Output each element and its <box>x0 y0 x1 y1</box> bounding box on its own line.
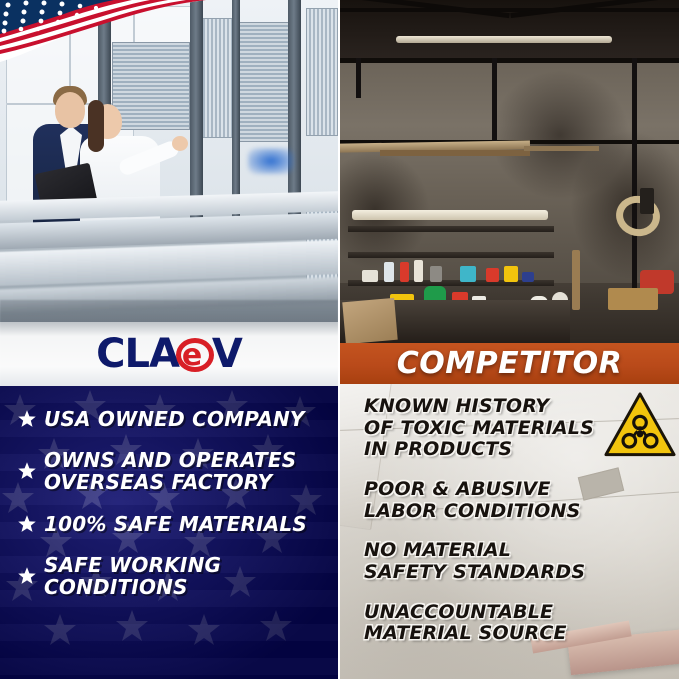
workshop-photo <box>340 0 679 343</box>
clutter-item <box>608 288 658 310</box>
shelf <box>348 252 554 258</box>
list-item: SAFE WORKING CONDITIONS <box>14 554 330 599</box>
drawback-text: KNOWN HISTORY OF TOXIC MATERIALS IN PROD… <box>364 396 594 461</box>
page-title: COMPETITOR <box>397 349 623 379</box>
drawback-text: POOR & ABUSIVE LABOR CONDITIONS <box>364 478 581 522</box>
clutter-item <box>522 272 534 282</box>
competitor-heading-band: COMPETITOR <box>340 343 679 384</box>
right-panel-competitor: COMPETITOR <box>340 0 679 679</box>
clutter-item <box>640 188 654 214</box>
drawbacks-panel: KNOWN HISTORY OF TOXIC MATERIALS IN PROD… <box>340 384 679 679</box>
benefit-text: SAFE WORKING CONDITIONS <box>44 554 221 599</box>
shelf-rail <box>352 210 548 220</box>
logo-accent-letter: e <box>182 341 202 371</box>
benefit-text: 100% SAFE MATERIALS <box>44 513 307 535</box>
clutter-item <box>384 262 394 282</box>
wall-plank <box>524 146 599 151</box>
logo-text-after: V <box>212 334 242 374</box>
clutter-item <box>460 266 476 282</box>
list-item: USA OWNED COMPANY <box>14 406 330 432</box>
benefit-text: USA OWNED COMPANY <box>44 408 305 430</box>
logo-text-before: CLA <box>96 334 179 374</box>
structural-beam <box>340 58 679 63</box>
list-item: POOR & ABUSIVE LABOR CONDITIONS <box>364 479 669 522</box>
clutter-item <box>362 270 378 282</box>
left-panel-claev: CLA e V <box>0 0 338 679</box>
clutter-item <box>572 250 580 310</box>
benefits-panel: USA OWNED COMPANY OWNS AND OPERATES OVER… <box>0 386 338 679</box>
structural-beam <box>492 58 497 148</box>
brand-logo-band: CLA e V <box>0 322 338 386</box>
wall-plank <box>380 150 530 156</box>
star-bullet-icon <box>14 511 40 537</box>
structural-beam <box>632 58 637 288</box>
star-bullet-icon <box>14 563 40 589</box>
clutter-item <box>414 260 423 282</box>
clutter-item <box>486 268 499 282</box>
claev-logo: CLA e V <box>96 331 242 377</box>
structural-beam <box>356 58 361 98</box>
equipment-rack <box>306 8 338 136</box>
woman-hair-strand <box>88 100 104 152</box>
comparison-poster: CLA e V <box>0 0 679 679</box>
woman-hand <box>172 136 188 151</box>
list-item: OWNS AND OPERATES OVERSEAS FACTORY <box>14 449 330 494</box>
benefits-list: USA OWNED COMPANY OWNS AND OPERATES OVER… <box>14 406 330 616</box>
roof-truss <box>340 8 679 12</box>
list-item: 100% SAFE MATERIALS <box>14 511 330 537</box>
blue-light-glow <box>248 148 294 174</box>
star-bullet-icon <box>14 406 40 432</box>
drawback-text: NO MATERIAL SAFETY STANDARDS <box>364 539 585 583</box>
man-head <box>55 92 85 128</box>
panel-divider <box>338 0 340 679</box>
cardboard-box <box>342 298 397 343</box>
list-item: UNACCOUNTABLE MATERIAL SOURCE <box>364 602 669 645</box>
shelf <box>348 226 554 232</box>
star-bullet-icon <box>14 458 40 484</box>
logo-accent-e: e <box>175 332 215 376</box>
clutter-item <box>430 266 442 282</box>
usa-flag-banner-icon <box>0 0 206 72</box>
clutter-item <box>504 266 518 282</box>
drawback-text: UNACCOUNTABLE MATERIAL SOURCE <box>364 601 567 645</box>
fluorescent-tube <box>396 36 612 43</box>
list-item: NO MATERIAL SAFETY STANDARDS <box>364 540 669 583</box>
clutter-item <box>400 262 409 282</box>
biohazard-icon <box>603 390 677 460</box>
benefit-text: OWNS AND OPERATES OVERSEAS FACTORY <box>44 449 296 494</box>
